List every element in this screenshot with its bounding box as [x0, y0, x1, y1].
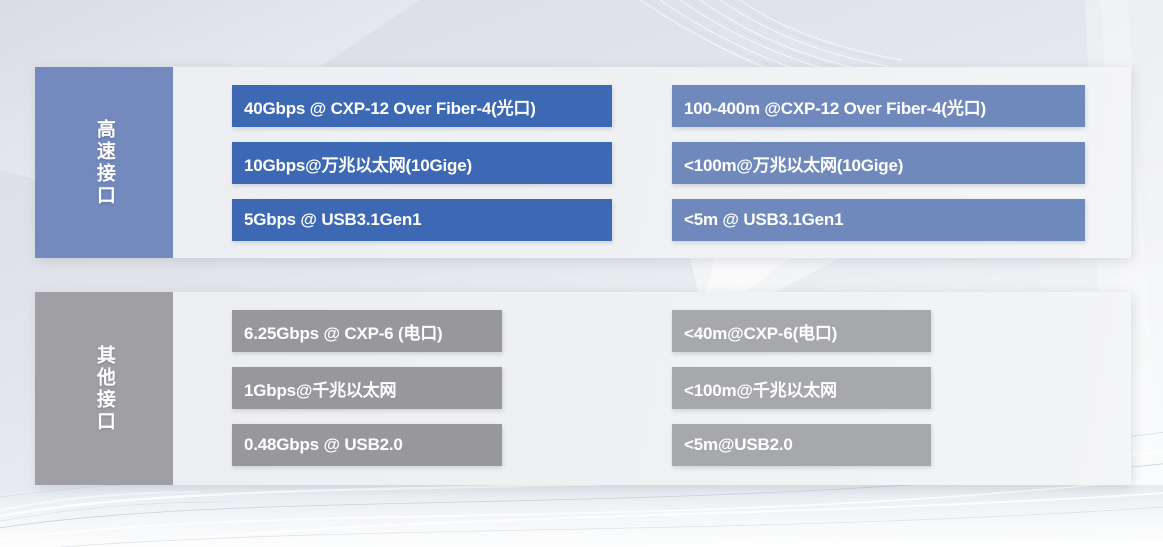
column-high-speed-distance: 100-400m @CXP-12 Over Fiber-4(光口) <100m@…: [672, 85, 1085, 241]
item-bar[interactable]: 40Gbps @ CXP-12 Over Fiber-4(光口): [232, 85, 612, 127]
item-bar[interactable]: <5m @ USB3.1Gen1: [672, 199, 1085, 241]
item-bar[interactable]: <100m@千兆以太网: [672, 367, 931, 409]
item-bar[interactable]: 100-400m @CXP-12 Over Fiber-4(光口): [672, 85, 1085, 127]
item-bar[interactable]: 6.25Gbps @ CXP-6 (电口): [232, 310, 502, 352]
content-panel-other: 6.25Gbps @ CXP-6 (电口) 1Gbps@千兆以太网 0.48Gb…: [173, 292, 1131, 485]
slide-canvas: 高速接口 40Gbps @ CXP-12 Over Fiber-4(光口) 10…: [0, 0, 1163, 547]
content-panel-high-speed: 40Gbps @ CXP-12 Over Fiber-4(光口) 10Gbps@…: [173, 67, 1131, 258]
category-label-high-speed: 高速接口: [93, 119, 115, 207]
category-panel-high-speed: 高速接口: [35, 67, 173, 258]
category-panel-other: 其他接口: [35, 292, 173, 485]
item-bar[interactable]: 1Gbps@千兆以太网: [232, 367, 502, 409]
item-bar[interactable]: <40m@CXP-6(电口): [672, 310, 931, 352]
item-bar[interactable]: <5m@USB2.0: [672, 424, 931, 466]
section-high-speed-interface: 高速接口 40Gbps @ CXP-12 Over Fiber-4(光口) 10…: [35, 67, 1131, 258]
column-high-speed-bandwidth: 40Gbps @ CXP-12 Over Fiber-4(光口) 10Gbps@…: [232, 85, 612, 241]
section-other-interface: 其他接口 6.25Gbps @ CXP-6 (电口) 1Gbps@千兆以太网 0…: [35, 292, 1131, 485]
item-bar[interactable]: 5Gbps @ USB3.1Gen1: [232, 199, 612, 241]
item-bar[interactable]: 0.48Gbps @ USB2.0: [232, 424, 502, 466]
item-bar[interactable]: 10Gbps@万兆以太网(10Gige): [232, 142, 612, 184]
column-other-distance: <40m@CXP-6(电口) <100m@千兆以太网 <5m@USB2.0: [672, 310, 931, 466]
item-bar[interactable]: <100m@万兆以太网(10Gige): [672, 142, 1085, 184]
category-label-other: 其他接口: [93, 345, 115, 433]
column-other-bandwidth: 6.25Gbps @ CXP-6 (电口) 1Gbps@千兆以太网 0.48Gb…: [232, 310, 502, 466]
